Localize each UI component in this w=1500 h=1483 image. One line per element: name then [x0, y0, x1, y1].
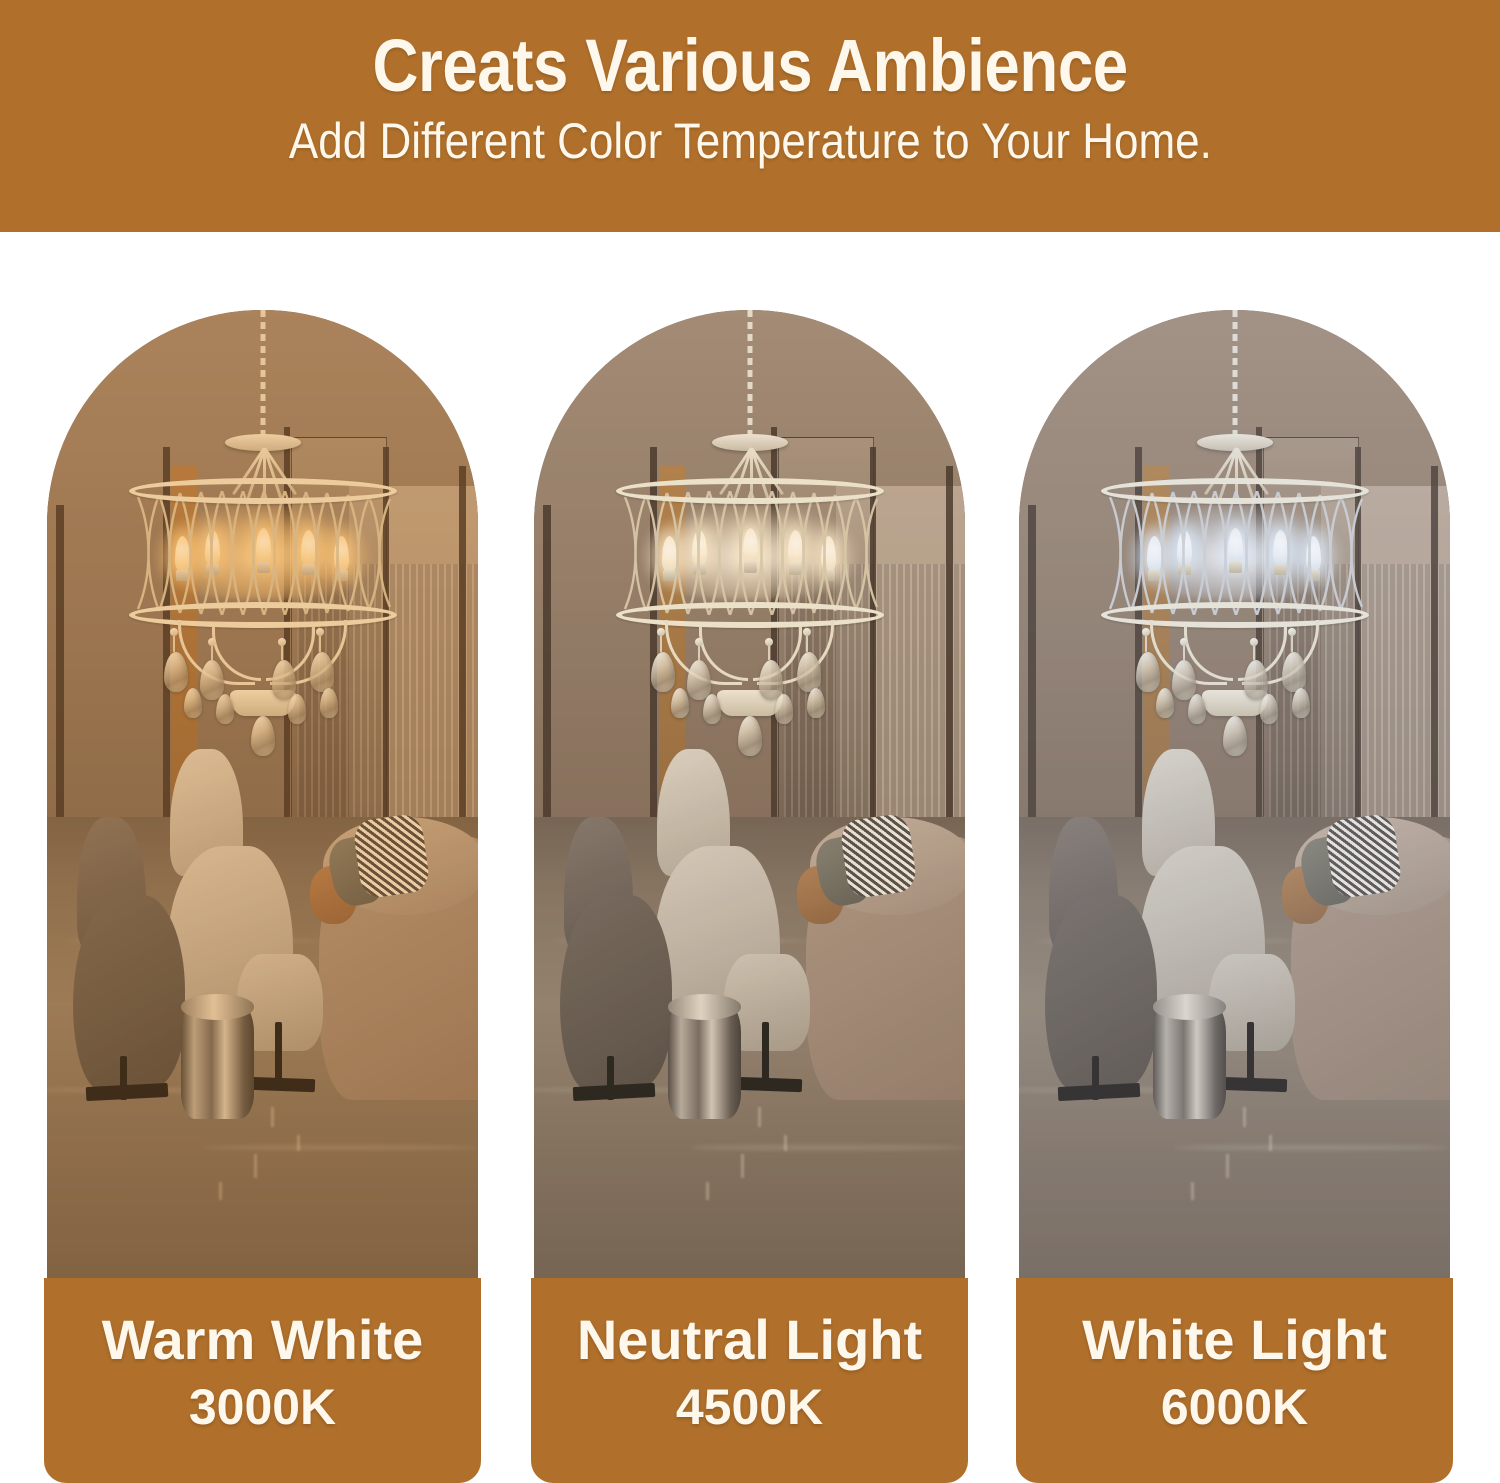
label-card-warm-white: Warm White 3000K: [44, 1278, 481, 1483]
label-title: White Light: [1082, 1312, 1387, 1368]
comparison-panels: Warm White 3000K: [0, 232, 1500, 1412]
label-card-white-light: White Light 6000K: [1016, 1278, 1453, 1483]
panel-neutral-light: Neutral Light 4500K: [534, 310, 965, 1285]
room-photo-warm-white: [47, 310, 478, 1285]
page-subtitle: Add Different Color Temperature to Your …: [289, 115, 1212, 168]
room-photo-neutral-light: [534, 310, 965, 1285]
room-photo-white-light: [1019, 310, 1450, 1285]
panel-warm-white: Warm White 3000K: [47, 310, 478, 1285]
color-temperature-tint: [47, 310, 478, 1285]
header-banner: Creats Various Ambience Add Different Co…: [0, 0, 1500, 232]
color-temperature-tint: [1019, 310, 1450, 1285]
label-title: Neutral Light: [577, 1312, 922, 1368]
label-title: Warm White: [102, 1312, 423, 1368]
interior-scene: [47, 310, 478, 1285]
label-temperature: 6000K: [1161, 1382, 1308, 1432]
label-temperature: 4500K: [676, 1382, 823, 1432]
color-temperature-tint: [534, 310, 965, 1285]
label-card-neutral-light: Neutral Light 4500K: [531, 1278, 968, 1483]
label-temperature: 3000K: [189, 1382, 336, 1432]
interior-scene: [534, 310, 965, 1285]
interior-scene: [1019, 310, 1450, 1285]
panel-white-light: White Light 6000K: [1019, 310, 1450, 1285]
page-title: Creats Various Ambience: [372, 28, 1127, 103]
